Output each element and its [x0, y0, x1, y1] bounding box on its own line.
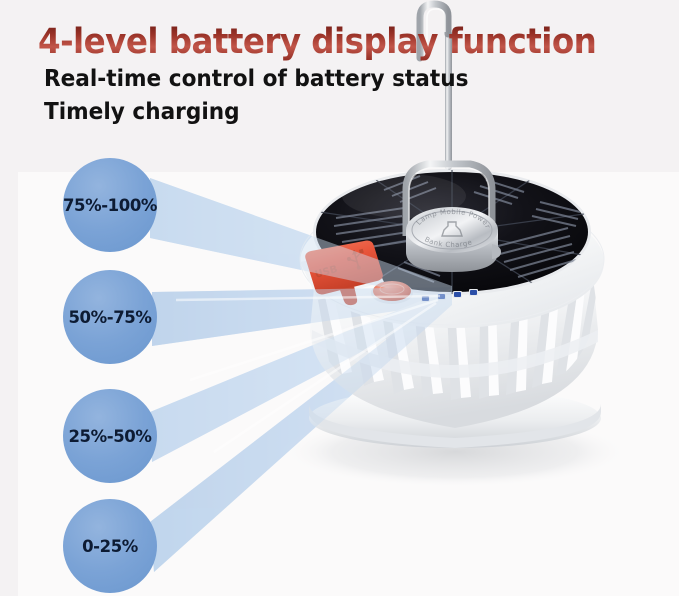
battery-badge-label: 0-25% — [82, 537, 139, 556]
page-title: 4-level battery display function — [38, 22, 596, 62]
battery-badge-50-75[interactable]: 50%-75% — [63, 270, 157, 364]
battery-badge-75-100[interactable]: 75%-100% — [63, 158, 158, 252]
heading-block: 4-level battery display function Real-ti… — [38, 22, 638, 128]
battery-badge-0-25[interactable]: 0-25% — [63, 499, 157, 593]
battery-badge-label: 25%-50% — [68, 427, 152, 446]
infographic-canvas: 4-level battery display function Real-ti… — [0, 0, 679, 596]
subtitle-line-2: Timely charging — [44, 97, 602, 128]
battery-badge-label: 50%-75% — [68, 308, 152, 327]
subtitle-line-1: Real-time control of battery status — [44, 64, 602, 95]
battery-badge-25-50[interactable]: 25%-50% — [63, 389, 157, 483]
battery-badge-label: 75%-100% — [63, 196, 158, 215]
